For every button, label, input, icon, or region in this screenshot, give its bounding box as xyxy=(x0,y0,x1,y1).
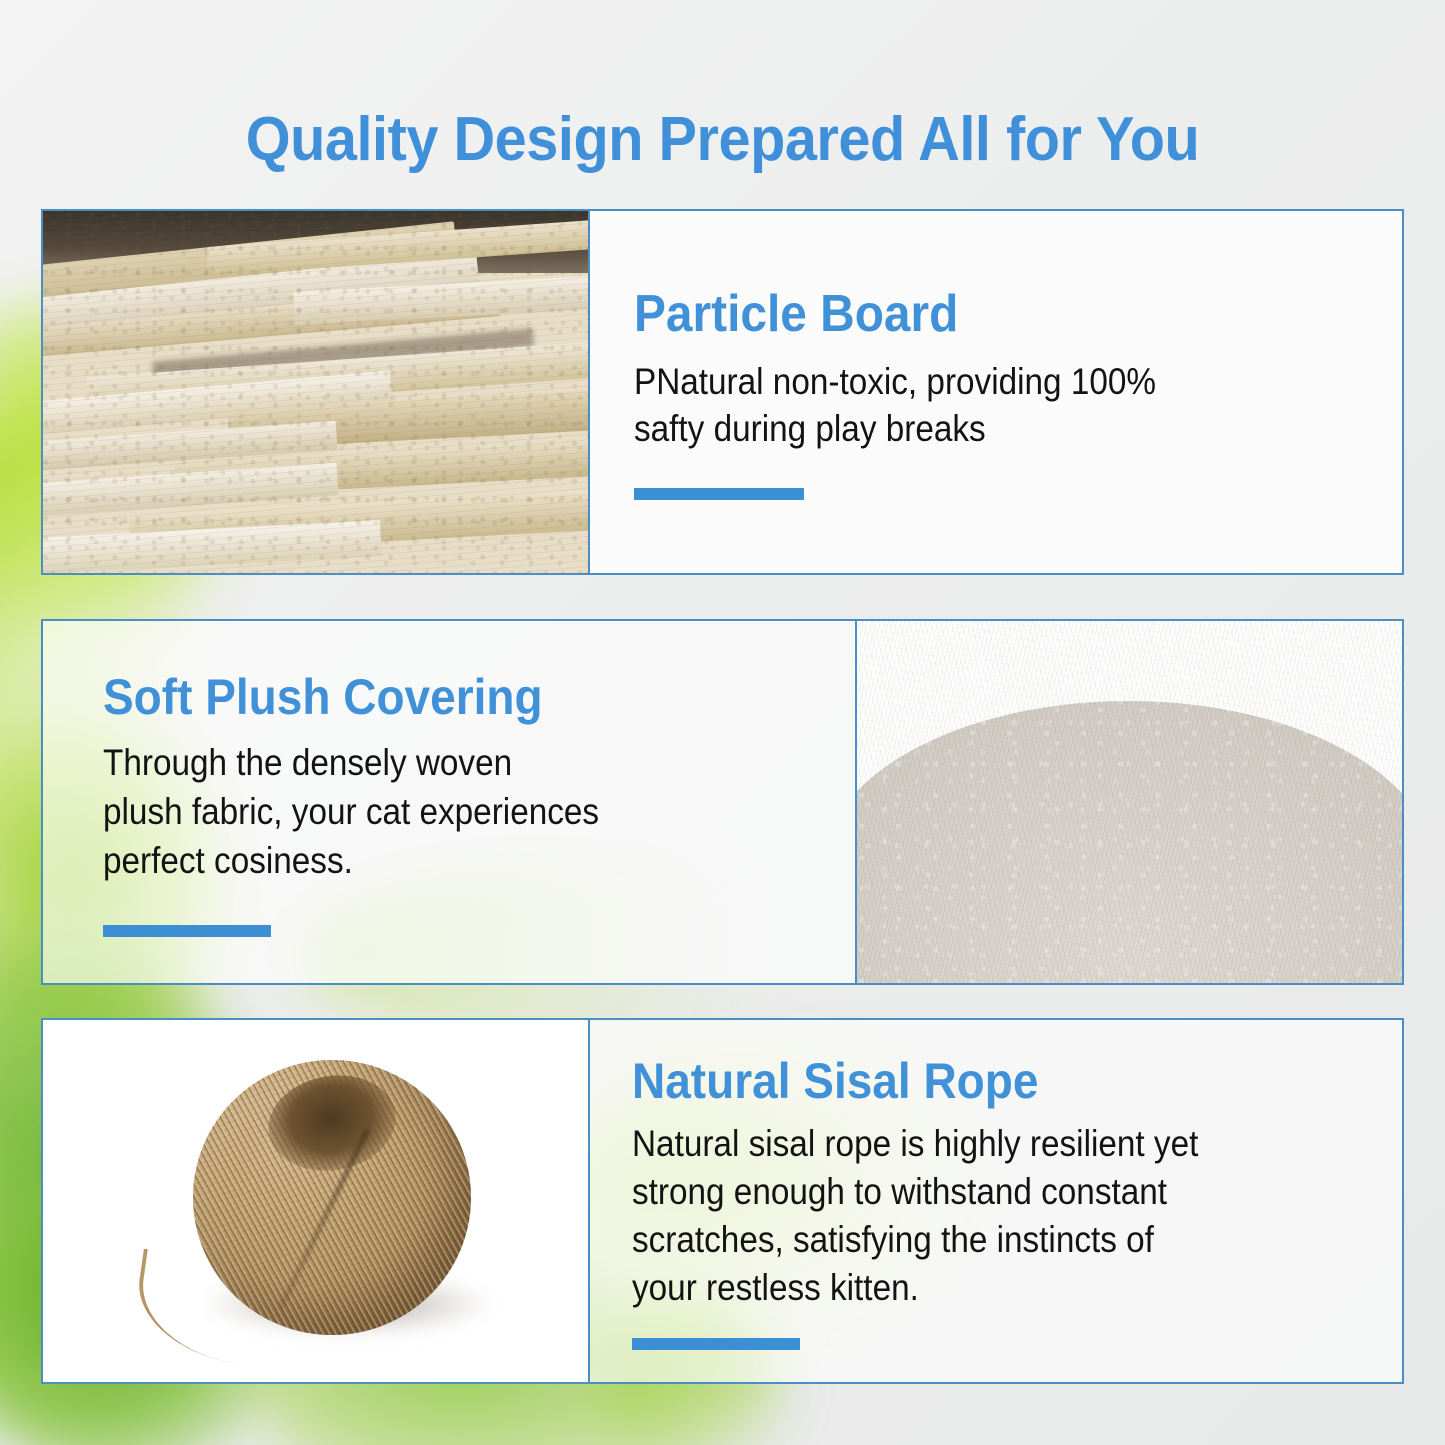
card-heading: Soft Plush Covering xyxy=(103,668,795,726)
card-body-text: PNatural non-toxic, providing 100% safty… xyxy=(634,358,1264,452)
card-heading: Natural Sisal Rope xyxy=(632,1052,1340,1110)
accent-underline-bar xyxy=(632,1338,800,1350)
plush-highlight-specks xyxy=(855,621,1402,983)
sisal-rope-photo xyxy=(43,1020,588,1382)
card-body-text: Natural sisal rope is highly resilient y… xyxy=(632,1120,1316,1312)
card-copy: Natural Sisal Rope Natural sisal rope is… xyxy=(588,1020,1402,1382)
card-divider xyxy=(855,621,857,983)
feature-card-soft-plush-covering: Soft Plush Covering Through the densely … xyxy=(41,619,1404,985)
card-divider xyxy=(588,1020,590,1382)
card-heading: Particle Board xyxy=(634,284,1341,344)
card-body-text: Through the densely woven plush fabric, … xyxy=(103,738,724,885)
feature-card-particle-board: Particle Board PNatural non-toxic, provi… xyxy=(41,209,1404,575)
page-title: Quality Design Prepared All for You xyxy=(51,104,1395,176)
card-copy: Soft Plush Covering Through the densely … xyxy=(43,621,855,983)
card-divider xyxy=(588,211,590,573)
product-feature-poster: Quality Design Prepared All for You xyxy=(0,0,1445,1445)
accent-underline-bar xyxy=(634,488,804,500)
card-copy: Particle Board PNatural non-toxic, provi… xyxy=(588,211,1402,573)
feature-card-natural-sisal-rope: Natural Sisal Rope Natural sisal rope is… xyxy=(41,1018,1404,1384)
particle-board-photo xyxy=(43,211,588,573)
accent-underline-bar xyxy=(103,925,271,937)
rope-loose-strand xyxy=(129,1249,298,1371)
plush-fabric-photo xyxy=(855,621,1402,983)
